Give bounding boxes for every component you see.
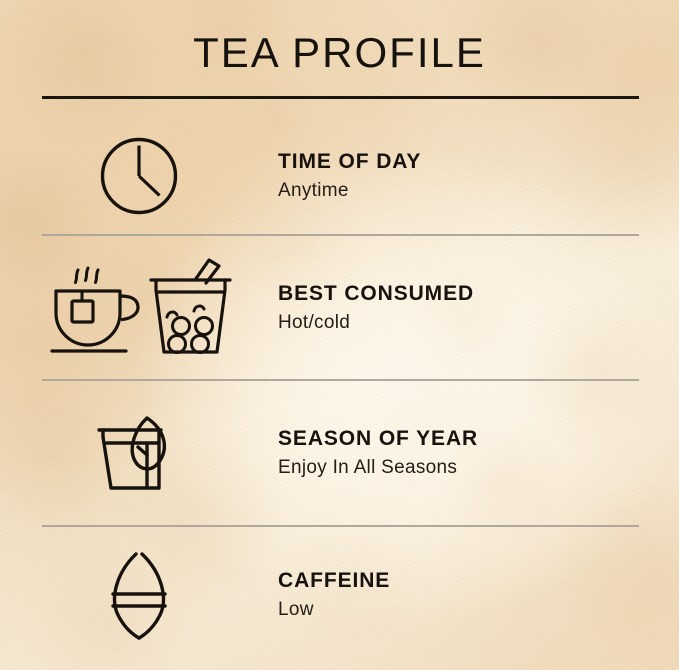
best-consumed-text-block: BEST CONSUMED Hot/cold xyxy=(278,282,679,333)
row-label: BEST CONSUMED xyxy=(278,282,679,306)
row-label: TIME OF DAY xyxy=(278,150,679,174)
row-value: Low xyxy=(278,599,679,621)
row-value: Enjoy In All Seasons xyxy=(278,457,679,479)
hot-cup-and-iced-glass-icon xyxy=(0,256,278,360)
glass-with-leaf-icon xyxy=(0,410,278,496)
time-of-day-text-block: TIME OF DAY Anytime xyxy=(278,150,679,201)
profile-row-time-of-day: TIME OF DAY Anytime xyxy=(0,128,679,224)
row-divider-3 xyxy=(42,525,639,527)
row-value: Anytime xyxy=(278,180,679,202)
clock-icon xyxy=(0,135,278,217)
tea-leaf-icon xyxy=(0,549,278,641)
page-title: TEA PROFILE xyxy=(0,31,679,75)
row-value: Hot/cold xyxy=(278,312,679,334)
row-divider-1 xyxy=(42,234,639,236)
row-divider-2 xyxy=(42,379,639,381)
profile-row-caffeine: CAFFEINE Low xyxy=(0,545,679,645)
tea-profile-infographic: TEA PROFILE TIME OF DAY Anytime xyxy=(0,0,679,670)
caffeine-text-block: CAFFEINE Low xyxy=(278,569,679,620)
season-of-year-text-block: SEASON OF YEAR Enjoy In All Seasons xyxy=(278,427,679,478)
row-label: CAFFEINE xyxy=(278,569,679,593)
title-underline-rule xyxy=(42,96,639,99)
profile-row-season-of-year: SEASON OF YEAR Enjoy In All Seasons xyxy=(0,400,679,506)
row-label: SEASON OF YEAR xyxy=(278,427,679,451)
profile-row-best-consumed: BEST CONSUMED Hot/cold xyxy=(0,252,679,364)
